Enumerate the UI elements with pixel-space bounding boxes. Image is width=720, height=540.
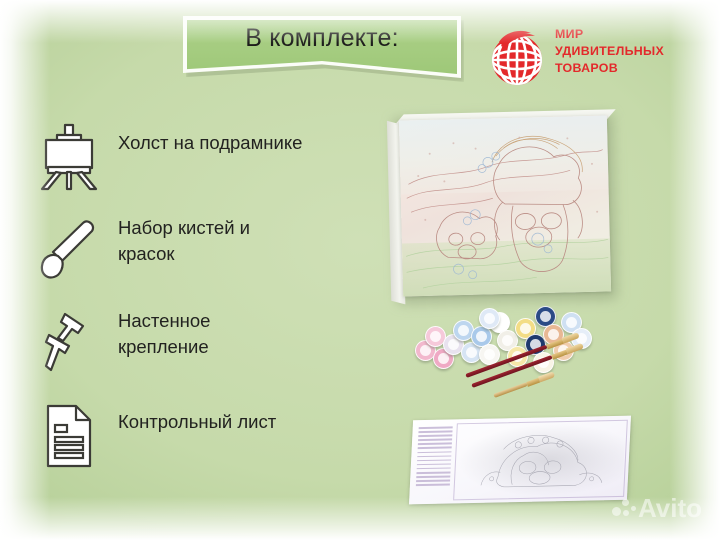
brush-handle (493, 382, 527, 398)
paintbrush-icon (36, 215, 104, 285)
paint-pot-label (458, 325, 469, 336)
paint-pot-label (448, 339, 459, 350)
header-banner: В комплекте: (183, 16, 461, 78)
feature-item-mount: Настенное крепление (36, 308, 366, 401)
paint-pot-label (438, 353, 449, 364)
document-icon (36, 401, 104, 471)
brush-ferrule (551, 349, 568, 359)
paint-pot-label (420, 345, 431, 356)
feature-label-sheet: Контрольный лист (118, 409, 366, 435)
avito-dots-icon (612, 498, 636, 520)
easel-icon (36, 122, 104, 192)
feature-item-brushes: Набор кистей и красок (36, 215, 366, 308)
feature-label-brushes: Набор кистей и красок (118, 215, 366, 267)
canvas-outline-drawing (399, 115, 611, 296)
brush-tip (566, 343, 584, 354)
feature-item-sheet: Контрольный лист (36, 401, 366, 494)
sheet-line-art (455, 422, 626, 499)
paint-pot-label (540, 311, 551, 322)
brush-ferrule (546, 338, 563, 348)
sheet-outline-drawing (455, 422, 626, 499)
paint-by-numbers-canvas (387, 105, 620, 307)
brand-line-2: УДИВИТЕЛЬНЫХ (555, 43, 697, 60)
brand-name: МИР УДИВИТЕЛЬНЫХ ТОВАРОВ (555, 26, 697, 77)
sheet-face (409, 416, 631, 505)
brush-tip (562, 332, 580, 343)
brand-line-3: ТОВАРОВ (555, 60, 697, 77)
product-infographic: В комплекте: МИР УДИВИТЕЛЬНЫХ ТОВАРОВ (0, 0, 720, 540)
page-title: В комплекте: (183, 24, 461, 53)
paint-brushes (470, 330, 630, 410)
sheet-legend-text (415, 426, 452, 497)
paint-pot-label (566, 317, 577, 328)
control-sheet (409, 416, 631, 505)
avito-wordmark: Avito (638, 492, 702, 524)
canvas-artwork (399, 115, 611, 296)
brand-line-1: МИР (555, 26, 697, 43)
nails-icon (36, 308, 104, 378)
feature-label-canvas: Холст на подрамнике (118, 130, 366, 156)
brush-tip (538, 371, 555, 382)
paint-pot-label (430, 331, 441, 342)
brand-logo: МИР УДИВИТЕЛЬНЫХ ТОВАРОВ (487, 24, 697, 96)
avito-watermark: Avito (612, 492, 712, 526)
paint-pot-label (484, 313, 495, 324)
red-globe-icon (487, 26, 549, 88)
feature-item-canvas: Холст на подрамнике (36, 122, 366, 215)
feature-list: Холст на подрамнике Набор кистей и красо… (36, 122, 366, 494)
feature-label-mount: Настенное крепление (118, 308, 366, 360)
paint-pot (479, 308, 500, 329)
